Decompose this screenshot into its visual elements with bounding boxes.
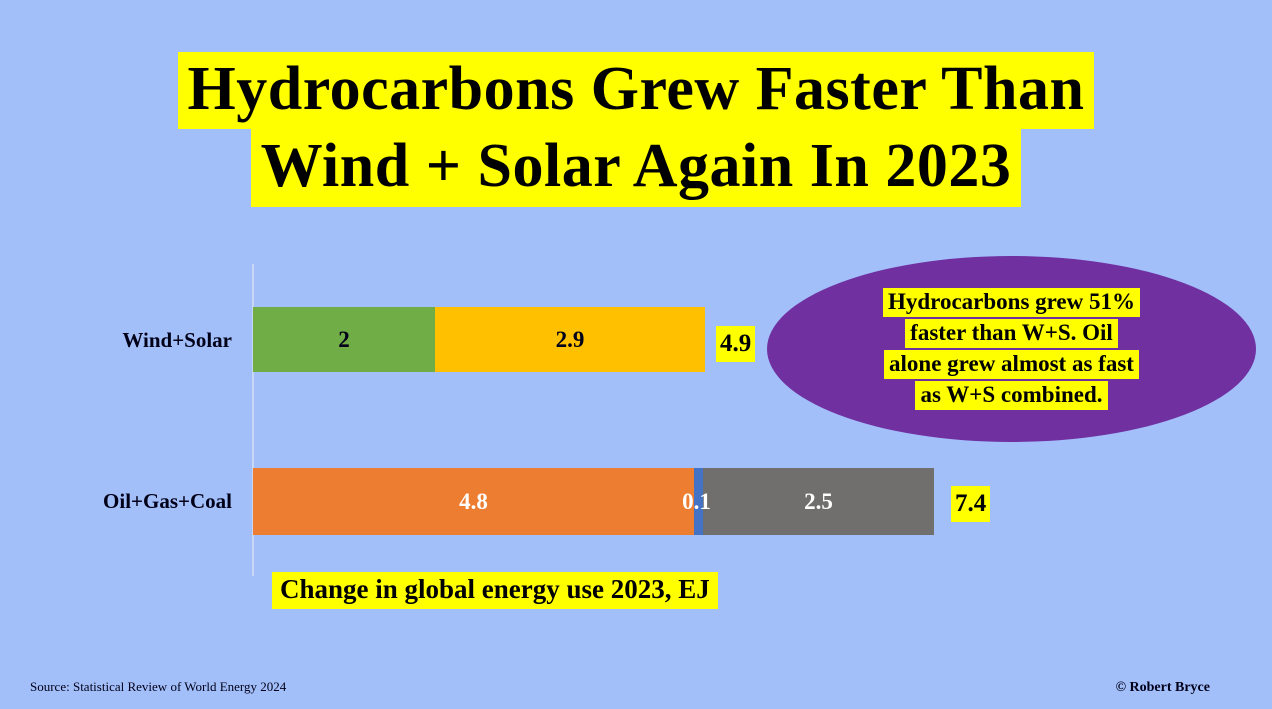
callout-ellipse: Hydrocarbons grew 51% faster than W+S. O…: [767, 256, 1256, 442]
bar-total-wind-solar: 4.9: [716, 326, 755, 362]
title-line-2: Wind + Solar Again In 2023: [251, 129, 1022, 206]
bar-segment-wind: 2: [253, 307, 435, 372]
bar-segment-coal-value: 2.5: [804, 489, 833, 515]
category-label-wind-solar: Wind+Solar: [20, 328, 232, 353]
bar-oil-gas-coal: 4.8 0.1 2.5: [253, 468, 934, 535]
callout-line-2: faster than W+S. Oil: [905, 319, 1118, 348]
category-label-oil-gas-coal: Oil+Gas+Coal: [20, 489, 232, 514]
page-title: Hydrocarbons Grew Faster Than Wind + Sol…: [0, 52, 1272, 207]
bar-segment-gas-value: 0.1: [682, 489, 711, 515]
bar-segment-solar-value: 2.9: [556, 327, 585, 353]
copyright-note: © Robert Bryce: [1116, 680, 1210, 696]
bar-segment-gas: 0.1: [694, 468, 703, 535]
callout-line-3: alone grew almost as fast: [884, 350, 1139, 379]
bar-segment-oil-value: 4.8: [459, 489, 488, 515]
bar-wind-solar: 2 2.9: [253, 307, 705, 372]
title-line-1: Hydrocarbons Grew Faster Than: [178, 52, 1095, 129]
bar-segment-solar: 2.9: [435, 307, 705, 372]
bar-segment-coal: 2.5: [703, 468, 934, 535]
callout-line-1: Hydrocarbons grew 51%: [883, 288, 1140, 317]
chart-caption: Change in global energy use 2023, EJ: [272, 572, 718, 609]
callout-line-4: as W+S combined.: [915, 381, 1107, 410]
source-note: Source: Statistical Review of World Ener…: [30, 679, 286, 695]
bar-segment-oil: 4.8: [253, 468, 694, 535]
bar-segment-wind-value: 2: [338, 327, 350, 353]
bar-total-oil-gas-coal: 7.4: [951, 486, 990, 522]
slide-canvas: Hydrocarbons Grew Faster Than Wind + Sol…: [0, 0, 1272, 709]
